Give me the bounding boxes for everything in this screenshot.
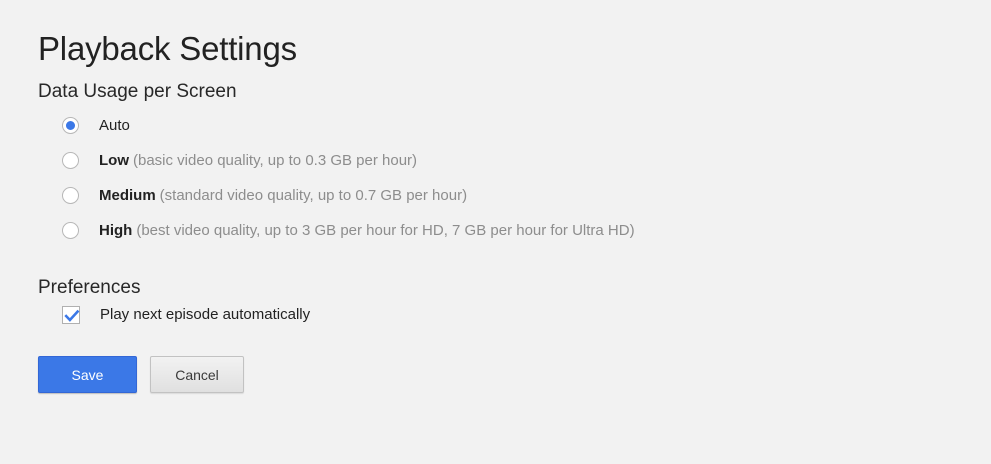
preferences-checkbox-group: Play next episode automatically: [62, 302, 310, 327]
radio-row-low[interactable]: Low(basic video quality, up to 0.3 GB pe…: [62, 143, 635, 178]
save-button[interactable]: Save: [38, 356, 137, 393]
radio-low[interactable]: [62, 152, 79, 169]
radio-option-name: Low: [99, 152, 129, 169]
section-heading-data-usage: Data Usage per Screen: [38, 80, 237, 104]
radio-row-high[interactable]: High(best video quality, up to 3 GB per …: [62, 213, 635, 248]
radio-option-description: (basic video quality, up to 0.3 GB per h…: [133, 152, 417, 169]
checkbox-row-play-next-episode[interactable]: Play next episode automatically: [62, 302, 310, 327]
checkmark-icon: [64, 308, 80, 324]
playback-settings-page: Playback Settings Data Usage per Screen …: [0, 0, 991, 464]
radio-high[interactable]: [62, 222, 79, 239]
radio-label-low: Low(basic video quality, up to 0.3 GB pe…: [99, 152, 417, 170]
checkbox-play-next-episode[interactable]: [62, 306, 80, 324]
radio-auto-selected[interactable]: [62, 117, 79, 134]
button-bar: Save Cancel: [38, 356, 244, 393]
checkbox-label: Play next episode automatically: [100, 306, 310, 324]
radio-dot-icon: [66, 121, 75, 130]
radio-option-name: Medium: [99, 187, 156, 204]
radio-option-name: Auto: [99, 117, 130, 134]
section-heading-preferences: Preferences: [38, 276, 140, 300]
radio-row-medium[interactable]: Medium(standard video quality, up to 0.7…: [62, 178, 635, 213]
radio-option-description: (standard video quality, up to 0.7 GB pe…: [160, 187, 467, 204]
radio-option-description: (best video quality, up to 3 GB per hour…: [136, 222, 634, 239]
radio-label-auto: Auto: [99, 117, 130, 135]
page-title: Playback Settings: [38, 29, 297, 69]
radio-medium[interactable]: [62, 187, 79, 204]
radio-label-high: High(best video quality, up to 3 GB per …: [99, 222, 635, 240]
cancel-button[interactable]: Cancel: [150, 356, 244, 393]
radio-option-name: High: [99, 222, 132, 239]
radio-label-medium: Medium(standard video quality, up to 0.7…: [99, 187, 467, 205]
data-usage-radio-group: AutoLow(basic video quality, up to 0.3 G…: [62, 108, 635, 248]
radio-row-auto[interactable]: Auto: [62, 108, 635, 143]
